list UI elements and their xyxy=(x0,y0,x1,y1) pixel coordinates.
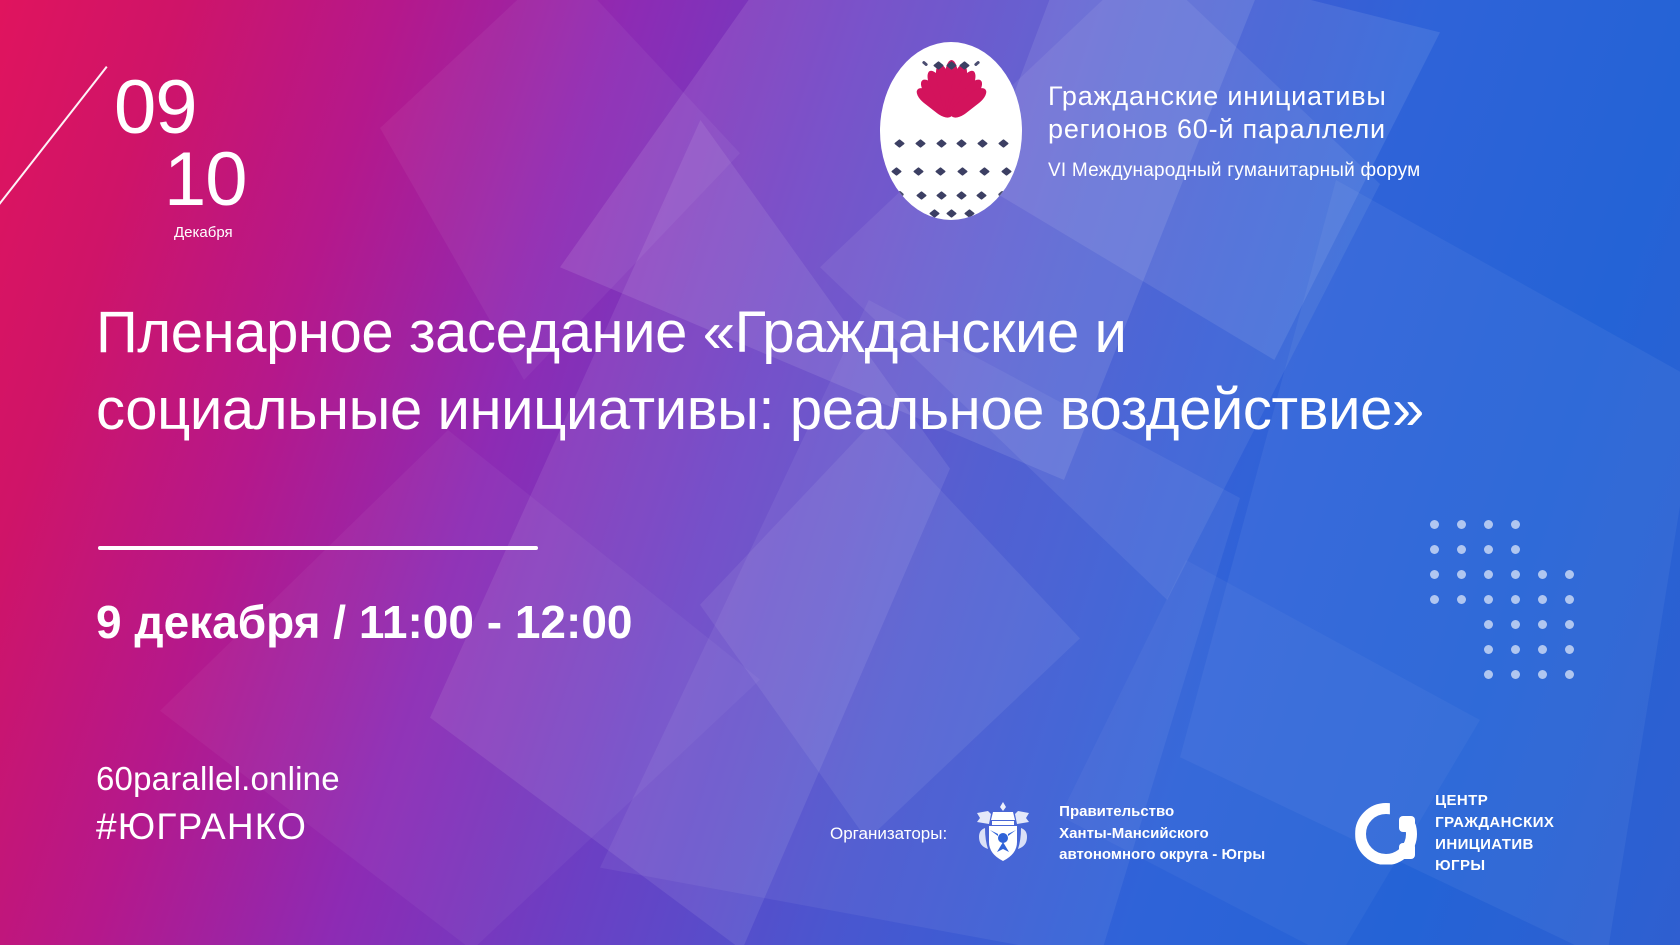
center-line-1: ЦЕНТР xyxy=(1435,790,1554,812)
cgi-circle-mark-icon xyxy=(1355,803,1417,865)
forum-title-line1: Гражданские инициативы xyxy=(1048,81,1387,111)
organizers-block: Организаторы: Правительство Ханты-М xyxy=(830,790,1554,877)
center-organizer: ЦЕНТР ГРАЖДАНСКИХ ИНИЦИАТИВ ЮГРЫ xyxy=(1355,790,1554,877)
government-line-1: Правительство xyxy=(1059,801,1265,823)
organizers-label: Организаторы: xyxy=(830,824,947,844)
government-line-2: Ханты-Мансийского xyxy=(1059,823,1265,845)
date-day-to: 10 xyxy=(164,142,247,218)
center-line-3: ИНИЦИАТИВ xyxy=(1435,834,1554,856)
government-line-3: автономного округа - Югры xyxy=(1059,844,1265,866)
forum-subtitle: VI Международный гуманитарный форум xyxy=(1048,160,1420,182)
forum-logo-text: Гражданские инициативы регионов 60-й пар… xyxy=(1048,80,1420,182)
page-title: Пленарное заседание «Гражданские и социа… xyxy=(96,295,1516,448)
center-organizer-text: ЦЕНТР ГРАЖДАНСКИХ ИНИЦИАТИВ ЮГРЫ xyxy=(1435,790,1554,877)
promo-banner: 09 10 Декабря Гражданские инициативы рег… xyxy=(0,0,1680,945)
government-organizer-text: Правительство Ханты-Мансийского автономн… xyxy=(1059,801,1265,866)
center-line-4: ЮГРЫ xyxy=(1435,855,1554,877)
website-link[interactable]: 60parallel.online xyxy=(96,760,340,798)
divider xyxy=(98,546,538,550)
center-line-2: ГРАЖДАНСКИХ xyxy=(1435,812,1554,834)
headline-line-2: социальные инициативы: реальное воздейст… xyxy=(96,372,1516,449)
date-badge: 09 10 Декабря xyxy=(96,38,366,233)
date-month: Декабря xyxy=(174,224,233,241)
hashtag: #ЮГРАНКО xyxy=(96,806,340,848)
headline-line-1: Пленарное заседание «Гражданские и xyxy=(96,295,1516,372)
globe-sphere-logo-icon xyxy=(880,42,1022,220)
forum-logo: Гражданские инициативы регионов 60-й пар… xyxy=(880,42,1420,220)
coat-of-arms-icon xyxy=(971,798,1035,870)
dot-grid-decoration xyxy=(1430,520,1640,690)
schedule-text: 9 декабря / 11:00 - 12:00 xyxy=(96,595,632,649)
forum-title-line2: регионов 60-й параллели xyxy=(1048,114,1386,144)
footer-links: 60parallel.online #ЮГРАНКО xyxy=(96,760,340,848)
